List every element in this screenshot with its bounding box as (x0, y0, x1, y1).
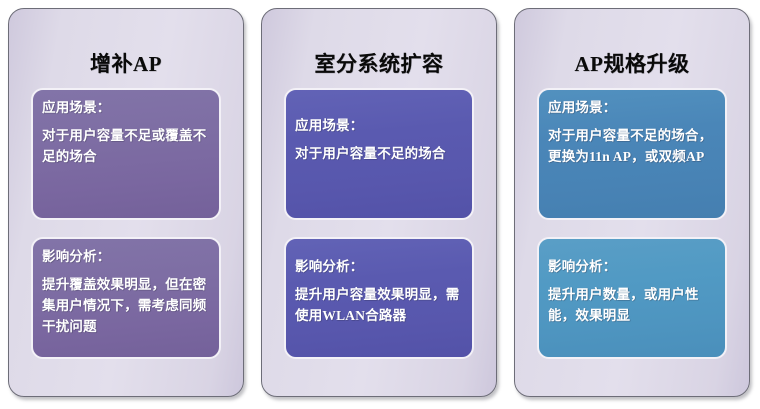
scenario-heading: 应用场景： (42, 98, 210, 119)
impact-body: 提升覆盖效果明显，但在密集用户情况下，需考虑同频干扰问题 (42, 275, 210, 338)
panel-ap-spec-upgrade[interactable]: AP规格升级 应用场景： 对于用户容量不足的场合，更换为11n AP，或双频AP… (514, 8, 750, 397)
scenario-body: 对于用户容量不足的场合，更换为11n AP，或双频AP (548, 126, 716, 168)
scenario-heading: 应用场景： (295, 116, 463, 137)
impact-box: 影响分析： 提升覆盖效果明显，但在密集用户情况下，需考虑同频干扰问题 (31, 237, 221, 359)
panel-title: 增补AP (18, 9, 234, 75)
scenario-box: 应用场景： 对于用户容量不足或覆盖不足的场合 (31, 88, 221, 220)
impact-heading: 影响分析： (548, 257, 716, 278)
panel-das-expansion[interactable]: 室分系统扩容 应用场景： 对于用户容量不足的场合 影响分析： 提升用户容量效果明… (261, 8, 497, 397)
scenario-box: 应用场景： 对于用户容量不足的场合，更换为11n AP，或双频AP (537, 88, 727, 220)
diagram-board: 增补AP 应用场景： 对于用户容量不足或覆盖不足的场合 影响分析： 提升覆盖效果… (0, 0, 760, 409)
panel-supplement-ap[interactable]: 增补AP 应用场景： 对于用户容量不足或覆盖不足的场合 影响分析： 提升覆盖效果… (8, 8, 244, 397)
scenario-body: 对于用户容量不足的场合 (295, 144, 463, 165)
impact-body: 提升用户容量效果明显，需使用WLAN合路器 (295, 285, 463, 327)
impact-body: 提升用户数量，或用户性能，效果明显 (548, 285, 716, 327)
scenario-body: 对于用户容量不足或覆盖不足的场合 (42, 126, 210, 168)
scenario-box: 应用场景： 对于用户容量不足的场合 (284, 88, 474, 220)
panel-title: AP规格升级 (524, 9, 740, 75)
impact-heading: 影响分析： (295, 257, 463, 278)
impact-heading: 影响分析： (42, 247, 210, 268)
scenario-heading: 应用场景： (548, 98, 716, 119)
impact-box: 影响分析： 提升用户容量效果明显，需使用WLAN合路器 (284, 237, 474, 359)
impact-box: 影响分析： 提升用户数量，或用户性能，效果明显 (537, 237, 727, 359)
panel-title: 室分系统扩容 (271, 9, 487, 75)
